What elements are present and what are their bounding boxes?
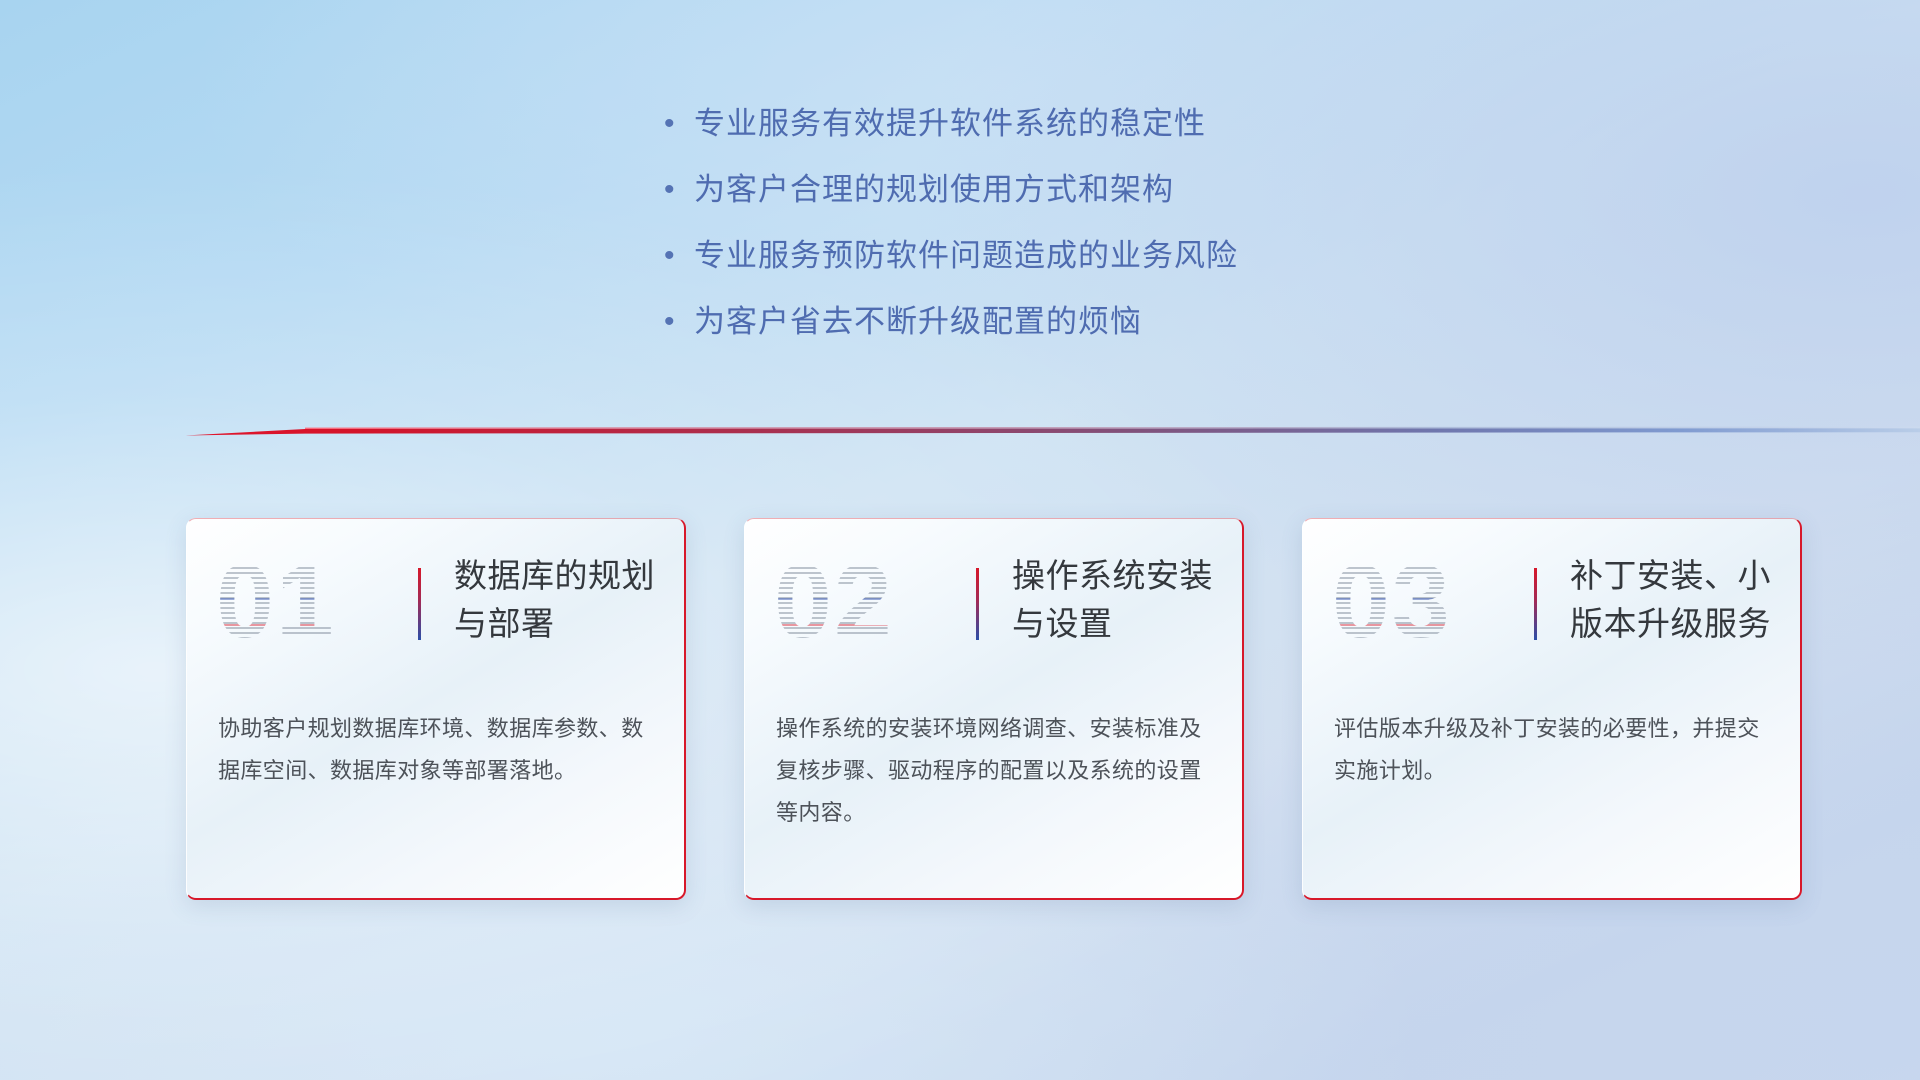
card-description: 操作系统的安装环境网络调查、安装标准及复核步骤、驱动程序的配置以及系统的设置等内… — [776, 708, 1216, 834]
card-title-rule — [418, 568, 421, 640]
card-title: 数据库的规划与部署 — [454, 552, 674, 648]
card-number-accent-lines: 02 — [774, 542, 974, 662]
list-item: • 专业服务预防软件问题造成的业务风险 — [660, 232, 1420, 298]
card-title: 操作系统安装与设置 — [1012, 552, 1232, 648]
service-card[interactable]: 03 03 补丁安装、小版本升级服务 评估版本升级及补丁安装的必要性，并提交实施… — [1302, 518, 1802, 900]
card-header: 03 03 补丁安装、小版本升级服务 — [1302, 518, 1802, 688]
bullet-text: 为客户省去不断升级配置的烦恼 — [694, 298, 1142, 346]
list-item: • 专业服务有效提升软件系统的稳定性 — [660, 100, 1420, 166]
service-card[interactable]: 02 02 操作系统安装与设置 操作系统的安装环境网络调查、安装标准及复核步骤、… — [744, 518, 1244, 900]
service-card-row: 01 01 数据库的规划与部署 协助客户规划数据库环境、数据库参数、数据库空间、… — [186, 518, 1802, 900]
card-description: 协助客户规划数据库环境、数据库参数、数据库空间、数据库对象等部署落地。 — [218, 708, 658, 792]
card-title-rule — [976, 568, 979, 640]
card-title: 补丁安装、小版本升级服务 — [1570, 552, 1790, 648]
bullet-text: 为客户合理的规划使用方式和架构 — [694, 166, 1174, 214]
list-item: • 为客户合理的规划使用方式和架构 — [660, 166, 1420, 232]
bullet-marker-icon: • — [660, 298, 694, 346]
bullet-marker-icon: • — [660, 166, 694, 214]
card-header: 02 02 操作系统安装与设置 — [744, 518, 1244, 688]
bullet-text: 专业服务有效提升软件系统的稳定性 — [694, 100, 1206, 148]
card-description: 评估版本升级及补丁安装的必要性，并提交实施计划。 — [1334, 708, 1774, 792]
slide-canvas: • 专业服务有效提升软件系统的稳定性 • 为客户合理的规划使用方式和架构 • 专… — [0, 0, 1920, 1080]
divider-line-icon — [185, 424, 1920, 440]
benefits-bullet-list: • 专业服务有效提升软件系统的稳定性 • 为客户合理的规划使用方式和架构 • 专… — [660, 100, 1420, 364]
card-header: 01 01 数据库的规划与部署 — [186, 518, 686, 688]
list-item: • 为客户省去不断升级配置的烦恼 — [660, 298, 1420, 364]
card-number-accent-lines: 01 — [216, 542, 416, 662]
card-title-rule — [1534, 568, 1537, 640]
section-divider — [185, 424, 1920, 440]
service-card[interactable]: 01 01 数据库的规划与部署 协助客户规划数据库环境、数据库参数、数据库空间、… — [186, 518, 686, 900]
card-number-accent-lines: 03 — [1332, 542, 1532, 662]
bullet-text: 专业服务预防软件问题造成的业务风险 — [694, 232, 1238, 280]
bullet-marker-icon: • — [660, 232, 694, 280]
bullet-marker-icon: • — [660, 100, 694, 148]
